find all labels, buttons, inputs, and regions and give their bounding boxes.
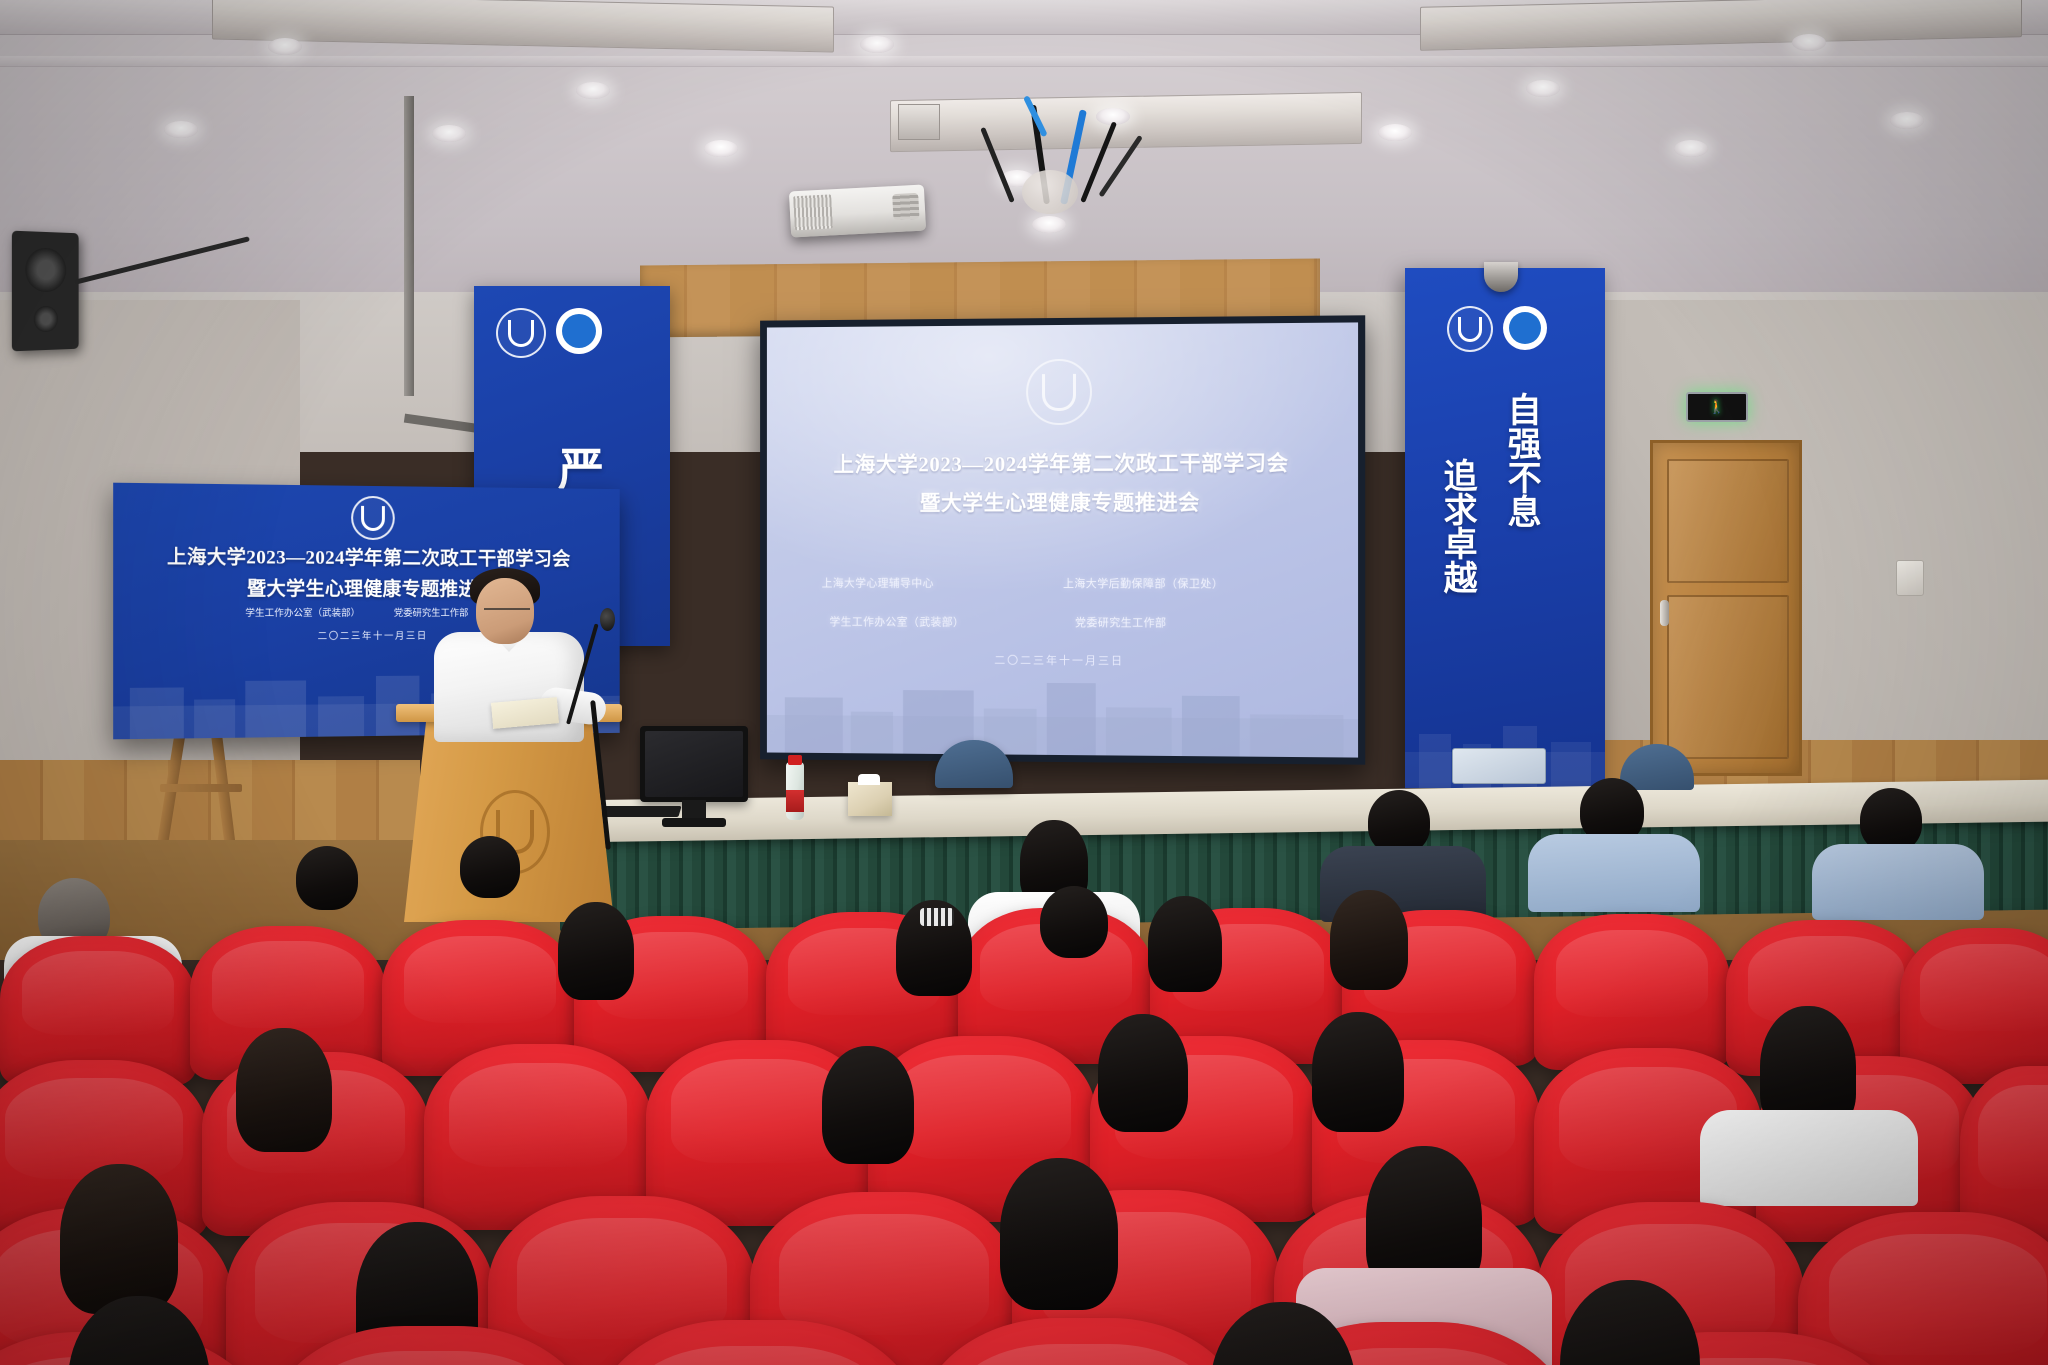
projection-screen: 上海大学2023—2024学年第二次政工干部学习会 暨大学生心理健康专题推进会 … — [760, 315, 1365, 764]
ceiling — [0, 0, 2048, 300]
screen-department-3: 学生工作办公室（武装部） — [829, 613, 964, 629]
audience-head — [1000, 1158, 1118, 1310]
hair-clip — [920, 908, 954, 926]
department-round-seal-icon — [1503, 306, 1547, 350]
audience-head — [1148, 896, 1222, 992]
board-department-1: 学生工作办公室（武装部） — [245, 605, 360, 619]
screen-title-line-1: 上海大学2023—2024学年第二次政工干部学习会 — [767, 447, 1358, 479]
department-round-seal-icon — [556, 308, 602, 354]
audience-head — [60, 1164, 178, 1314]
exit-sign: 🚶 — [1686, 392, 1748, 422]
exit-running-man-icon: 🚶 — [1709, 400, 1725, 415]
projector — [789, 184, 926, 237]
audience-seating — [0, 760, 2048, 1365]
audience-shoulders — [1700, 1110, 1918, 1206]
shu-university-seal-icon — [496, 308, 546, 358]
audience-head — [1330, 890, 1408, 990]
screen-department-1: 上海大学心理辅导中心 — [822, 575, 934, 591]
audience-shoulders — [1812, 844, 1984, 920]
audience-shoulders — [1528, 834, 1700, 912]
shu-university-seal-icon — [1026, 359, 1092, 425]
audience-head — [1860, 788, 1922, 852]
auditorium-seat[interactable] — [1798, 1212, 2048, 1365]
ceiling-dome-speaker — [1022, 170, 1078, 214]
ceiling-downlight — [268, 38, 302, 55]
ceiling-downlight — [704, 140, 738, 157]
air-supply-vent — [890, 92, 1362, 152]
audience-head — [558, 902, 634, 1000]
hall-door-right — [1650, 440, 1802, 776]
motto-column-self-strengthening: 自强不息 — [1501, 392, 1541, 528]
speaker-glasses — [484, 608, 530, 620]
ceiling-downlight — [576, 82, 610, 99]
ceiling-downlight — [1890, 112, 1924, 129]
audience-head — [822, 1046, 914, 1164]
screen-campus-skyline-graphic — [767, 662, 1358, 758]
ceiling-downlight — [1032, 216, 1066, 233]
microphone-head — [600, 608, 615, 631]
projector-vent-grill — [793, 194, 833, 230]
audience-head — [236, 1028, 332, 1152]
board-title-line-2: 暨大学生心理健康专题推进会 — [113, 573, 620, 601]
auditorium-seat[interactable] — [1534, 914, 1730, 1070]
shu-university-seal-icon — [351, 496, 395, 540]
ceiling-downlight — [1378, 124, 1412, 141]
conference-hall-photo: 上海大学2023—2024学年第二次政工干部学习会 暨大学生心理健康专题推进会 … — [0, 0, 2048, 1365]
board-title-line-1: 上海大学2023—2024学年第二次政工干部学习会 — [113, 541, 620, 571]
audience-head — [1312, 1012, 1404, 1132]
projector-lens — [892, 193, 919, 220]
screen-department-4: 党委研究生工作部 — [1075, 614, 1167, 630]
audience-head — [1368, 790, 1430, 854]
ceiling-downlight — [1792, 34, 1826, 51]
wall-switch-panel[interactable] — [1896, 560, 1924, 596]
screen-title-line-2: 暨大学生心理健康专题推进会 — [767, 486, 1358, 517]
audience-head — [1098, 1014, 1188, 1132]
board-department-2: 党委研究生工作部 — [394, 605, 469, 619]
ceiling-downlight — [1674, 140, 1708, 157]
audience-head — [460, 836, 520, 898]
wall-speaker — [12, 231, 79, 352]
ceiling-downlight — [432, 125, 466, 142]
ceiling-downlight — [860, 36, 894, 53]
screen-department-2: 上海大学后勤保障部（保卫处） — [1063, 575, 1223, 591]
ceiling-downlight — [1526, 80, 1560, 97]
ceiling-downlight — [164, 121, 198, 138]
audience-head — [1040, 886, 1108, 958]
shu-university-seal-icon — [1447, 306, 1493, 352]
door-handle[interactable] — [1660, 600, 1669, 626]
motto-column-pursue-excellence: 追求卓越 — [1437, 458, 1477, 594]
projector-mount-pole — [404, 96, 414, 396]
audience-head — [296, 846, 358, 910]
wall-banner-right: 追求卓越 自强不息 — [1405, 268, 1605, 788]
